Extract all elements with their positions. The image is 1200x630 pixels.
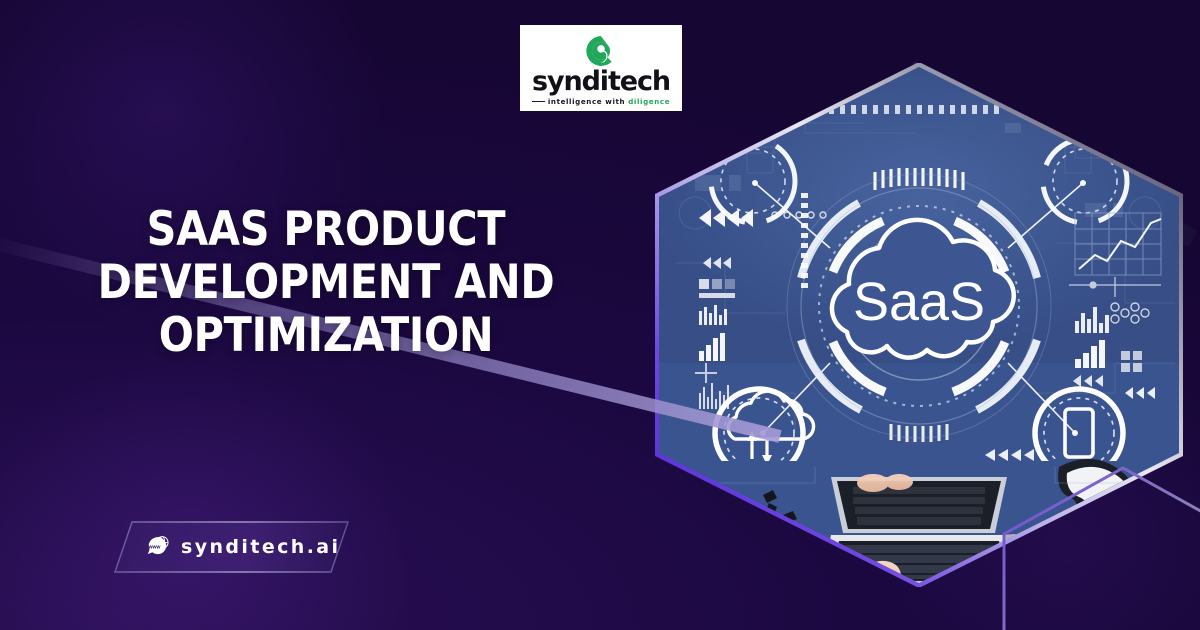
- svg-text:www: www: [147, 544, 161, 550]
- tagline-rule: [532, 101, 545, 102]
- logo-wordmark: synditech: [532, 69, 670, 95]
- hero-hexagon-image: SaaS: [655, 63, 1183, 587]
- desk-scene: BOOK: [655, 459, 1183, 587]
- hexagon-content: SaaS: [655, 63, 1183, 587]
- saas-cloud-label: SaaS: [853, 272, 985, 332]
- tagline-primary: intelligence with: [548, 97, 625, 106]
- book-cover-label: BOOK: [682, 529, 723, 550]
- laptop-computer: [817, 474, 1021, 587]
- headline-line-2: DEVELOPMENT AND: [97, 256, 555, 309]
- synditech-circle-mark-icon: [584, 34, 618, 68]
- www-globe-chat-icon: www: [144, 534, 170, 560]
- headline-line-1: SAAS PRODUCT: [97, 203, 555, 256]
- coffee-cup: [739, 547, 791, 587]
- tagline-accent: diligence: [628, 97, 670, 106]
- page-title: SAAS PRODUCT DEVELOPMENT AND OPTIMIZATIO…: [97, 203, 555, 362]
- notebook-teal: [661, 507, 751, 575]
- website-url-text: synditech.ai: [181, 536, 340, 558]
- headline-line-3: OPTIMIZATION: [97, 309, 555, 362]
- website-url-badge[interactable]: www synditech.ai: [114, 521, 349, 573]
- brand-logo-card[interactable]: synditech intelligence with diligence: [520, 25, 682, 111]
- logo-tagline: intelligence with diligence: [532, 97, 670, 106]
- banner-canvas: SaaS: [0, 0, 1200, 630]
